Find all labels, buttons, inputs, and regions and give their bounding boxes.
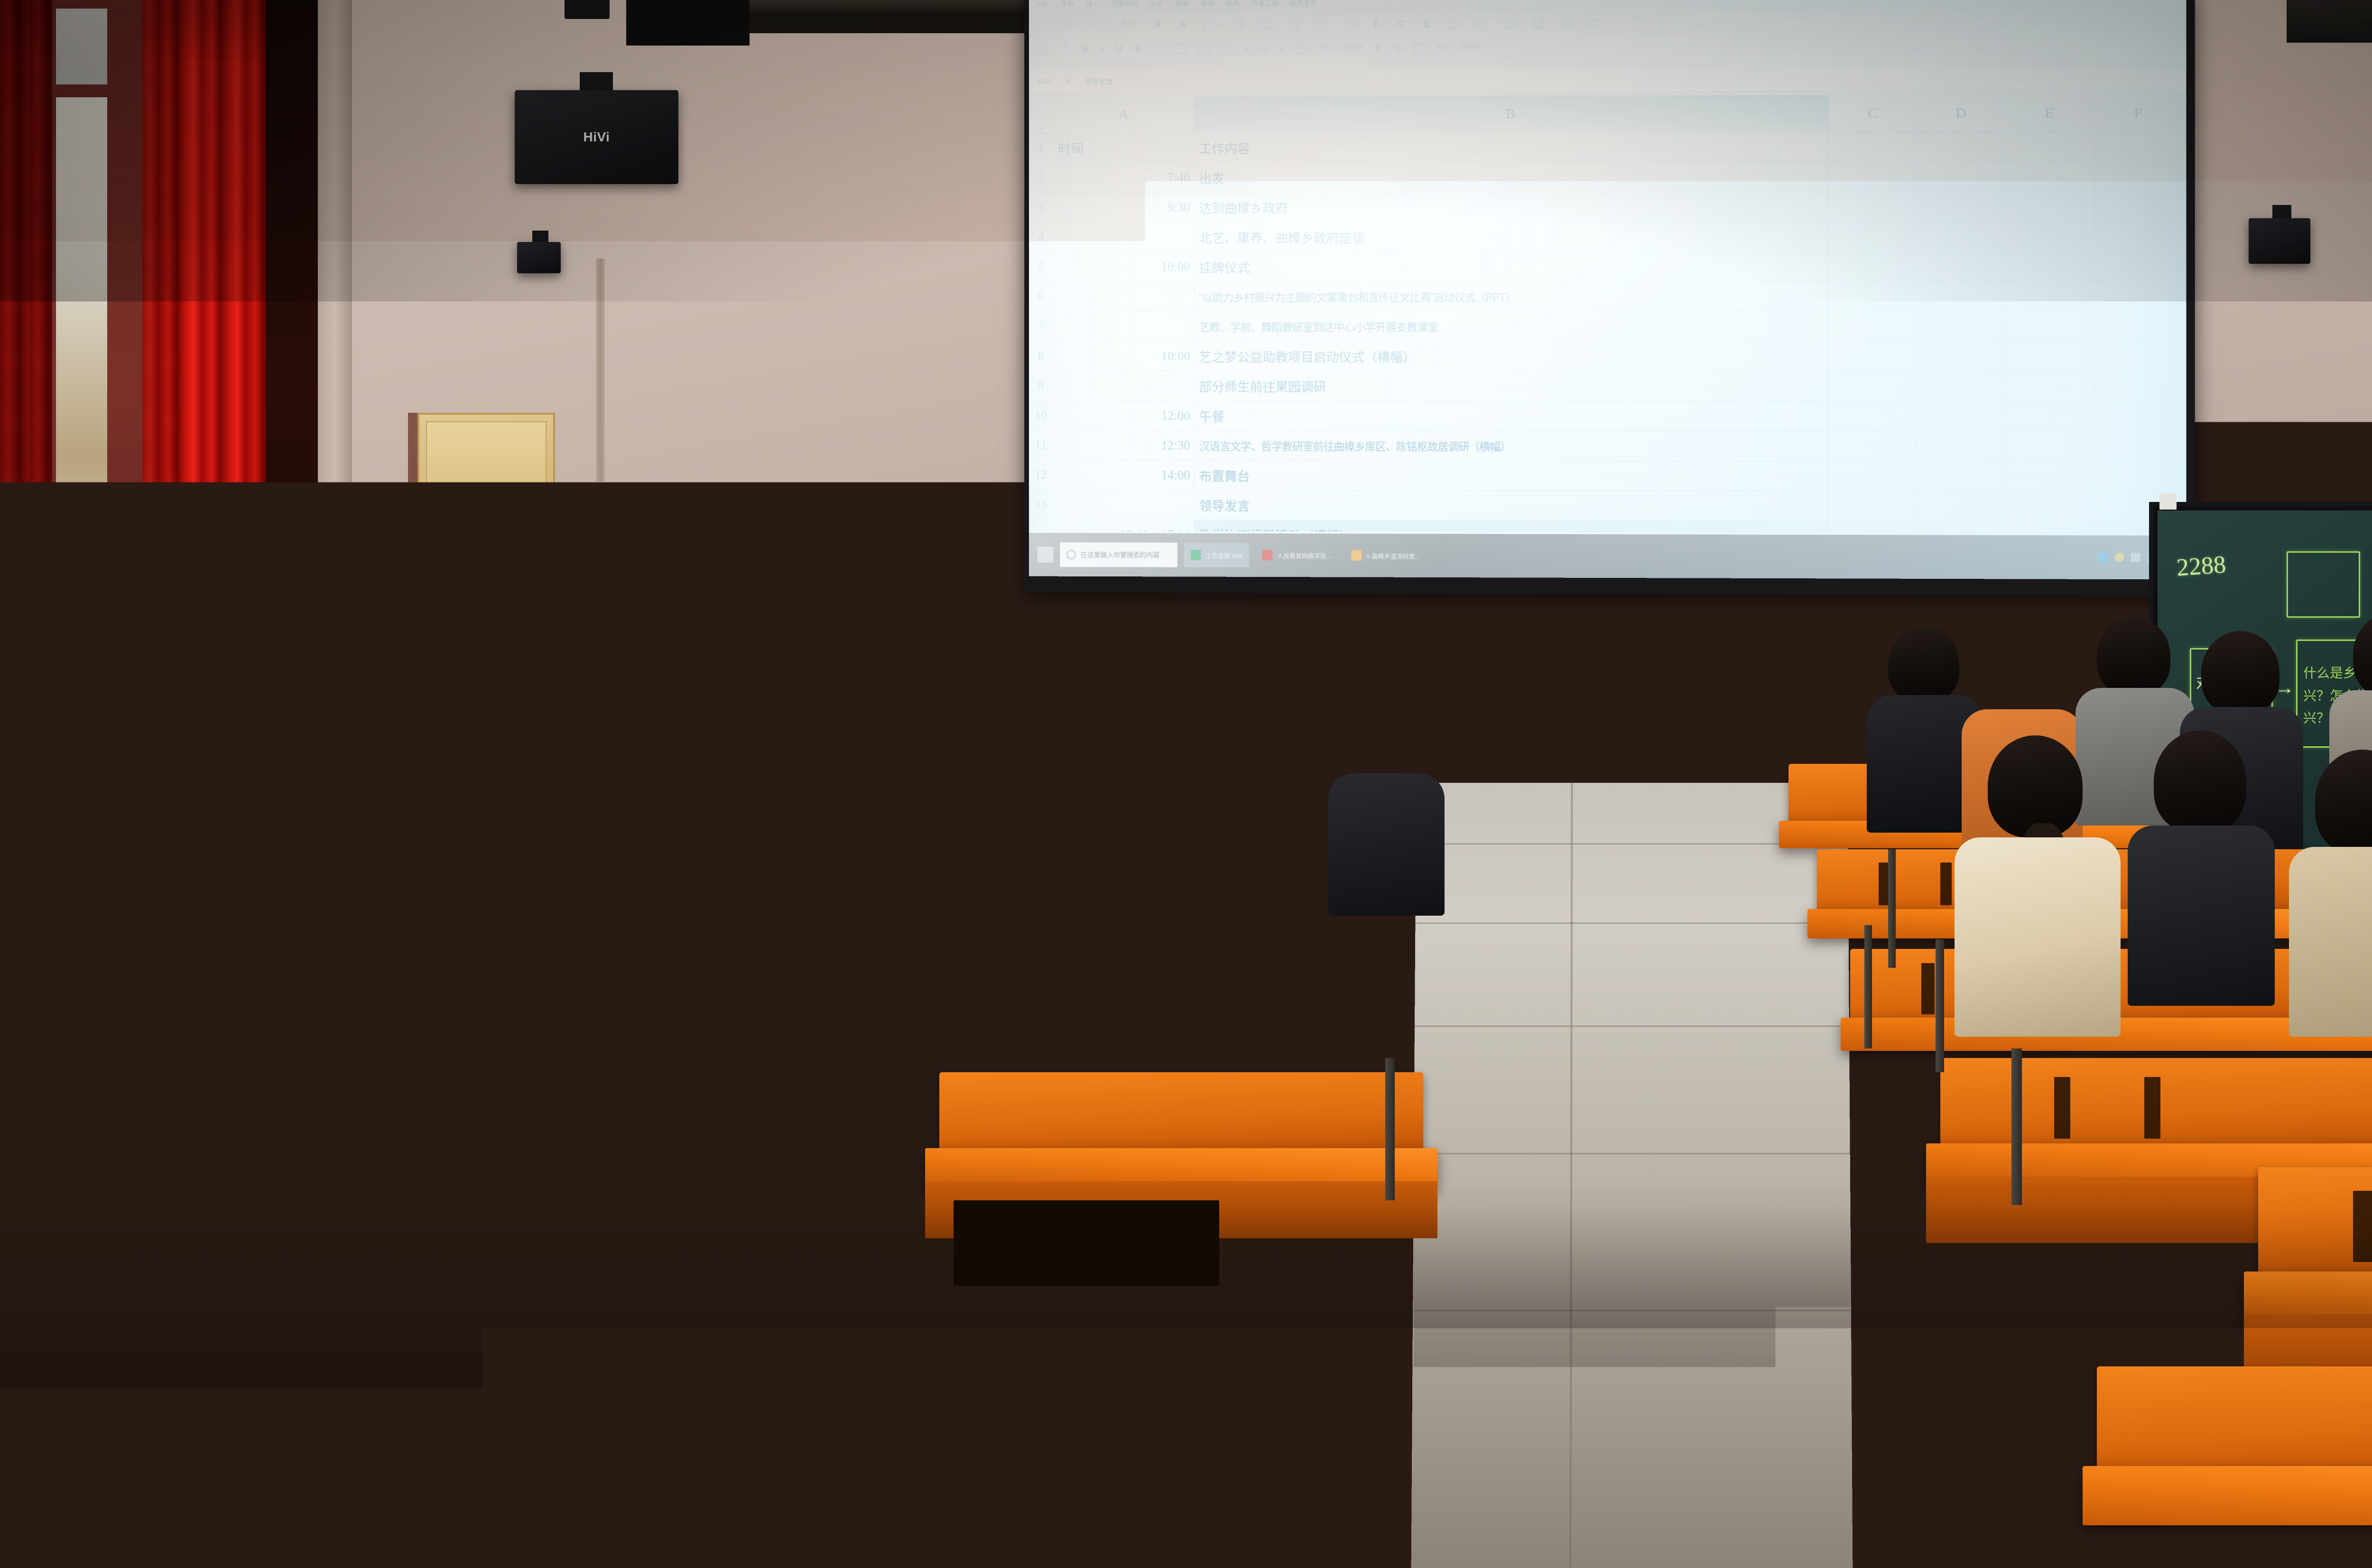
cell-empty[interactable] — [1917, 521, 2005, 533]
align-right-icon[interactable]: ≡ — [1279, 44, 1285, 54]
student-torso-sage — [285, 1063, 740, 1452]
cell-empty[interactable] — [1917, 192, 2005, 222]
row-header[interactable]: 4 — [1029, 223, 1053, 252]
ribbon-tab-member[interactable]: 会员专享 — [1290, 0, 1317, 7]
cell-task[interactable]: 汉语言文学、哲学教研室前往曲樟乡库区、陈铭枢故居调研（横幅） — [1195, 431, 1829, 462]
column-header-A[interactable]: A — [1053, 96, 1194, 133]
student-hair — [460, 844, 617, 1011]
cell-empty[interactable] — [2094, 312, 2183, 342]
classroom-photo-scene: HiVi 12 1 2 3 4 5 6 7 8 9 10 11 文件 开始 插入… — [0, 0, 2372, 1568]
table-row[interactable]: 1214:00布置舞台 — [1029, 460, 2187, 492]
student-hair — [2201, 977, 2320, 1103]
eyeglasses-icon — [825, 529, 886, 546]
eyeglass-lens-left — [825, 529, 850, 546]
tile-seam-4 — [1414, 1153, 1850, 1154]
cell-empty[interactable] — [2005, 342, 2094, 371]
front-light-strip — [631, 646, 797, 668]
column-header-row[interactable]: A B C D E F — [1029, 94, 2187, 133]
row-header[interactable]: 7 — [1029, 312, 1053, 342]
cell-empty[interactable] — [1917, 372, 2005, 402]
table-row[interactable]: 1415:00—17:00教学物资捐赠活动（横幅） — [1029, 520, 2187, 534]
door-frame — [318, 0, 352, 607]
cabinet-panel — [426, 421, 547, 516]
cell-empty[interactable] — [1917, 432, 2005, 462]
indent-icon[interactable] — [1232, 19, 1242, 29]
taskbar-item-browser[interactable]: 人民教育网络学院... — [1256, 543, 1338, 567]
blackboard-clip-left — [2159, 493, 2177, 510]
find-icon[interactable] — [1562, 18, 1572, 28]
cell-empty[interactable] — [1917, 342, 2005, 371]
cell-time[interactable]: 7:40 — [1053, 163, 1194, 193]
presenter — [785, 479, 989, 726]
desk-leg-C3 — [1385, 1058, 1395, 1200]
student-torso — [638, 757, 764, 899]
delete-row-icon[interactable] — [1505, 18, 1515, 28]
cell-empty[interactable] — [1917, 252, 2005, 282]
taskbar-item-spreadsheet[interactable]: 工作安排.xlsx — [1184, 543, 1249, 567]
font-size-shrink-icon[interactable]: A — [1179, 19, 1186, 29]
column-header-F[interactable]: F — [2094, 94, 2183, 132]
cell-time[interactable]: 12:30 — [1053, 430, 1194, 460]
window-pane-upper — [56, 9, 107, 84]
cell-task[interactable]: “以助力乡村振兴为主题的文案策划和宣传征文比赛”启动仪式（PPT） — [1195, 282, 1829, 312]
fx-icon[interactable]: fx — [1065, 77, 1071, 85]
ribbon-tab-home[interactable]: 开始 — [1061, 0, 1074, 8]
student-hair — [1186, 678, 1274, 771]
ceiling-panel-box — [626, 0, 750, 46]
table-row[interactable]: 4北艺、康养、曲樟乡政府座谈 — [1029, 222, 2187, 252]
ribbon-tab-devtools[interactable]: 开发工具 — [1252, 0, 1279, 7]
student-torso — [1328, 773, 1445, 916]
cell-time[interactable] — [1053, 312, 1194, 342]
column-header-C[interactable]: C — [1829, 95, 1917, 132]
help-icon[interactable] — [1590, 18, 1601, 28]
cabinet-vent-slot — [424, 525, 548, 537]
percent-icon[interactable]: % — [1393, 43, 1401, 54]
cell-empty[interactable] — [1829, 342, 1917, 371]
desk-leg-C2 — [1390, 920, 1398, 1034]
curtain-left — [0, 0, 52, 740]
row-header[interactable]: 2 — [1029, 163, 1053, 193]
table-row[interactable]: 7艺教、学前、舞蹈教研室到达中心小学开展支教课堂 — [1029, 312, 2187, 342]
row-header[interactable]: 12 — [1029, 460, 1053, 490]
student-torso — [0, 1072, 171, 1404]
ribbon-tab-view[interactable]: 视图 — [1226, 0, 1240, 7]
cell-task[interactable]: 艺之梦公益助教项目启动仪式（横幅） — [1195, 342, 1829, 372]
conditional-format-icon[interactable] — [1317, 19, 1327, 29]
paste-label[interactable]: 粘贴 — [1065, 19, 1075, 30]
desk-leg-R4 — [1864, 925, 1872, 1048]
currency-icon[interactable]: ¥ — [1375, 43, 1381, 54]
ribbon-row-secondary[interactable]: 字体 B I U A ≡ ≡ ≡ 对齐 合并居中 ¥ % 求和 冻结窗格 — [1029, 36, 2187, 60]
merge-center-icon[interactable] — [1297, 43, 1307, 54]
number-format-icon[interactable] — [1288, 19, 1299, 29]
freeze-label[interactable]: 冻结窗格 — [1459, 43, 1480, 54]
row-header[interactable]: 14 — [1029, 520, 1053, 534]
bench-slat-L6c — [873, 1409, 894, 1485]
desk-leg-R1 — [1888, 849, 1896, 968]
student-torso — [707, 906, 1020, 1276]
bench-slat-R2b — [1940, 863, 1952, 905]
cell-empty[interactable] — [1917, 462, 2005, 492]
cell-task[interactable]: 领导发言 — [1195, 490, 1829, 521]
cell-task[interactable]: 工作内容 — [1195, 132, 1829, 163]
taskbar-item-1-label: 工作安排.xlsx — [1205, 550, 1242, 559]
student-hair — [332, 740, 415, 828]
bench-slat-L6b — [769, 1409, 789, 1485]
cell-empty[interactable] — [2005, 252, 2094, 282]
air-conditioner-duct — [2287, 0, 2372, 43]
cell-empty[interactable] — [2005, 282, 2094, 312]
cell-time[interactable] — [1053, 371, 1194, 401]
cell-empty[interactable] — [1829, 492, 1917, 522]
spreadsheet-rows[interactable]: 1时间工作内容27:40出发39:30达到曲樟乡政府4北艺、康养、曲樟乡政府座谈… — [1029, 131, 2187, 534]
cell-empty[interactable] — [1829, 312, 1917, 342]
tile-seam-2 — [1415, 922, 1848, 924]
ribbon-tab-formula[interactable]: 公式 — [1150, 0, 1163, 7]
camera-bag-zipper — [1138, 975, 1264, 981]
cell-empty[interactable] — [1829, 402, 1917, 432]
cell-time[interactable]: 12:00 — [1053, 401, 1194, 431]
cell-empty[interactable] — [2005, 372, 2094, 402]
column-header-B[interactable]: B — [1195, 95, 1829, 133]
student-hair — [769, 731, 958, 930]
taskbar-item-document[interactable]: 1-曲樟乡温汤村党... — [1344, 543, 1427, 568]
cell-empty[interactable] — [1829, 162, 1917, 192]
ribbon-tab-insert[interactable]: 插入 — [1086, 0, 1100, 7]
cell-empty[interactable] — [2094, 282, 2183, 312]
name-box[interactable]: B13 — [1038, 77, 1051, 85]
cell-time[interactable]: 10:00 — [1053, 341, 1194, 371]
cell-empty[interactable] — [1917, 312, 2005, 342]
row-header[interactable]: 1 — [1029, 133, 1053, 163]
row-header[interactable]: 11 — [1029, 430, 1053, 460]
row-header[interactable]: 13 — [1029, 490, 1053, 520]
ribbon-tab-file[interactable]: 文件 — [1036, 0, 1049, 8]
microphone-led-indicator — [872, 591, 889, 596]
windows-taskbar[interactable]: 在这里输入你要搜索的内容 工作安排.xlsx 人民教育网络学院... 1-曲樟乡… — [1029, 533, 2187, 579]
cell-empty[interactable] — [1917, 282, 2005, 312]
table-row[interactable]: 6“以助力乡村振兴为主题的文案策划和宣传征文比赛”启动仪式（PPT） — [1029, 282, 2187, 312]
student-hair — [1955, 897, 2083, 1034]
row-header[interactable]: 10 — [1029, 401, 1053, 431]
cell-empty[interactable] — [2094, 192, 2183, 222]
cell-empty[interactable] — [2094, 162, 2183, 192]
ribbon-tab-review[interactable]: 审阅 — [1201, 0, 1214, 7]
cell-empty[interactable] — [1829, 462, 1917, 492]
fill-color-icon[interactable] — [1176, 44, 1186, 54]
student-torso — [1366, 1243, 1660, 1568]
chalk-code-number: 2288 — [2176, 550, 2227, 582]
cell-empty[interactable] — [2005, 162, 2094, 192]
table-row[interactable]: 510:00挂牌仪式 — [1029, 252, 2187, 282]
hair-clip — [530, 773, 567, 801]
cell-empty[interactable] — [1917, 132, 2005, 162]
cell-empty[interactable] — [1829, 432, 1917, 462]
filter-icon[interactable]: ▽ — [1397, 19, 1404, 29]
row-header[interactable]: 5 — [1029, 252, 1053, 282]
wall-trim-strip — [596, 259, 605, 482]
cell-empty[interactable] — [2094, 222, 2183, 251]
table-row[interactable]: 27:40出发 — [1029, 162, 2187, 193]
cell-empty[interactable] — [1917, 402, 2005, 432]
format-painter-icon[interactable] — [1093, 19, 1103, 30]
freeze-panes-icon[interactable] — [1448, 19, 1459, 29]
row-header[interactable]: 8 — [1029, 341, 1053, 371]
taskbar-item-2-label: 人民教育网络学院... — [1277, 551, 1331, 560]
cell-empty[interactable] — [1829, 282, 1917, 312]
cell-empty[interactable] — [1917, 222, 2005, 251]
student-hair — [114, 697, 192, 780]
select-all-corner[interactable] — [1029, 96, 1053, 133]
cabinet-blue-label — [528, 540, 547, 583]
row-header[interactable]: 3 — [1029, 193, 1053, 223]
cell-empty[interactable] — [2005, 312, 2094, 342]
cell-empty[interactable] — [2005, 192, 2094, 222]
start-button-icon[interactable] — [1038, 547, 1054, 563]
merge-cells-icon[interactable] — [1260, 19, 1270, 29]
cell-empty[interactable] — [2094, 252, 2183, 282]
student-hair — [408, 659, 479, 735]
eyeglass-lens-right — [861, 529, 886, 546]
borders-icon[interactable] — [1153, 44, 1164, 54]
speaker-right-small — [2249, 218, 2310, 264]
window-pane-lower — [56, 97, 107, 681]
cell-task[interactable]: 布置舞台 — [1195, 461, 1829, 492]
cell-empty[interactable] — [2005, 462, 2094, 492]
insert-row-icon[interactable] — [1476, 19, 1487, 29]
paste-icon[interactable] — [1037, 19, 1047, 30]
chalk-empty-box — [2287, 551, 2360, 618]
cell-empty[interactable] — [2005, 432, 2094, 462]
network-icon[interactable] — [2098, 553, 2108, 562]
student-hair — [147, 778, 237, 875]
cell-task[interactable]: 艺教、学前、舞蹈教研室到达中心小学开展支教课堂 — [1195, 312, 1829, 342]
student-torso — [954, 761, 1086, 918]
speaker-brand-label: HiVi — [584, 130, 610, 145]
cell-empty[interactable] — [1829, 521, 1917, 534]
table-row[interactable]: 9部分师生前往果园调研 — [1029, 371, 2187, 402]
table-row[interactable]: 39:30达到曲樟乡政府 — [1029, 192, 2187, 223]
student-hair — [1988, 735, 2083, 837]
decimal-icon[interactable] — [1414, 43, 1424, 54]
cell-time[interactable] — [1053, 223, 1194, 252]
sum-label[interactable]: 求和 — [1436, 43, 1447, 54]
cell-empty[interactable] — [2094, 462, 2183, 492]
cell-empty[interactable] — [2005, 522, 2094, 534]
format-cells-icon[interactable] — [1533, 18, 1544, 28]
volume-icon[interactable] — [2131, 553, 2140, 562]
cell-time[interactable] — [1053, 282, 1194, 312]
cell-empty[interactable] — [2005, 131, 2094, 162]
font-effects-icon[interactable]: A — [1134, 44, 1141, 54]
ribbon-tab-layout[interactable]: 页面布局 — [1112, 0, 1138, 7]
cell-task[interactable]: 达到曲樟乡政府 — [1195, 192, 1829, 223]
cell-empty[interactable] — [2005, 222, 2094, 251]
cell-empty[interactable] — [2094, 342, 2183, 372]
font-family-label[interactable]: 字体 — [1059, 44, 1069, 55]
ribbon-tab-data[interactable]: 数据 — [1176, 0, 1189, 7]
font-color-icon[interactable] — [1198, 44, 1209, 54]
spreadsheet-grid[interactable]: A B C D E F 1时间工作内容27:40出发39:30达到曲樟乡政府4北… — [1029, 94, 2187, 534]
cell-empty[interactable] — [2094, 432, 2183, 462]
cell-task[interactable]: 北艺、康养、曲樟乡政府座谈 — [1195, 222, 1829, 252]
cell-task[interactable]: 午餐 — [1195, 401, 1829, 432]
cell-time[interactable]: 9:30 — [1053, 193, 1194, 223]
student-hair — [1888, 626, 1959, 702]
bench-slat-L2a — [57, 829, 67, 863]
student-hair — [2097, 617, 2170, 695]
cell-empty[interactable] — [1917, 492, 2005, 522]
speaker-left-small — [517, 242, 561, 273]
table-row[interactable]: 1112:30汉语言文学、哲学教研室前往曲樟乡库区、陈铭枢故居调研（横幅） — [1029, 430, 2187, 462]
taskbar-item-3-label: 1-曲樟乡温汤村党... — [1366, 551, 1420, 560]
projection-screen[interactable]: 文件 开始 插入 页面布局 公式 数据 审阅 视图 开发工具 会员专享 粘贴 格… — [1029, 0, 2187, 579]
column-header-E[interactable]: E — [2005, 94, 2094, 132]
cell-empty[interactable] — [1829, 132, 1917, 162]
tile-seam-3 — [1415, 1026, 1849, 1027]
desk-L6 — [522, 1480, 1376, 1537]
table-style-icon[interactable] — [1345, 19, 1355, 29]
presenter-hand — [871, 622, 901, 656]
cell-empty[interactable] — [2005, 492, 2094, 522]
document-icon — [1351, 550, 1362, 561]
align-left-icon[interactable]: ≡ — [1244, 44, 1250, 54]
ribbon-row-primary[interactable]: 粘贴 格式刷 A A Σ ▽ ⇅ — [1029, 9, 2187, 37]
font-size-grow-icon[interactable]: A — [1154, 19, 1161, 29]
bold-icon[interactable]: B — [1082, 44, 1088, 55]
cell-empty[interactable] — [2005, 402, 2094, 432]
bench-slat-R3a — [1921, 963, 1935, 1014]
cell-empty[interactable] — [2094, 131, 2183, 162]
student-torso-pink — [128, 873, 270, 1034]
sort-icon[interactable]: ⇅ — [1422, 19, 1430, 29]
clear-format-icon[interactable] — [1221, 44, 1232, 54]
cell-task[interactable]: 教学物资捐赠活动（横幅） — [1195, 520, 1829, 534]
bench-slat-L3a — [85, 944, 99, 992]
excel-icon — [1191, 550, 1201, 560]
cell-task[interactable]: 挂牌仪式 — [1195, 252, 1829, 282]
format-painter-label[interactable]: 格式刷 — [1121, 19, 1137, 30]
student-hair — [659, 683, 738, 766]
align-center-icon[interactable]: ≡ — [1261, 44, 1267, 54]
table-row[interactable]: 1012:00午餐 — [1029, 401, 2187, 432]
clipboard-icon[interactable] — [1037, 44, 1047, 55]
student-hair — [2201, 631, 2279, 714]
cell-empty[interactable] — [2094, 402, 2183, 432]
notification-icon[interactable] — [2114, 553, 2124, 562]
formula-bar[interactable]: B13 fx 领导发言 — [1029, 68, 2187, 93]
student-torso-cream — [1883, 1063, 2177, 1395]
italic-icon[interactable]: I — [1101, 44, 1103, 54]
student-hair — [1347, 702, 1421, 780]
presenter-coat — [790, 563, 946, 729]
cell-empty[interactable] — [1829, 192, 1917, 222]
row-height-label[interactable]: 对齐 — [1320, 43, 1330, 54]
cabinet-yellow-label — [430, 542, 447, 547]
student-torso-red — [308, 818, 444, 975]
student-hair — [977, 683, 1060, 771]
browser-icon — [1262, 550, 1273, 560]
desk-leg-R2 — [1936, 939, 1944, 1072]
cell-time[interactable] — [1053, 490, 1194, 520]
student-hair — [166, 622, 232, 693]
eyeglass-bridge — [850, 536, 861, 538]
wrap-text-icon[interactable] — [1204, 19, 1214, 29]
table-row[interactable]: 13领导发言 — [1029, 490, 2187, 522]
cell-empty[interactable] — [1829, 371, 1917, 401]
cell-time[interactable]: 14:00 — [1053, 460, 1194, 490]
cell-task[interactable]: 出发 — [1195, 162, 1829, 192]
cell-task[interactable]: 部分师生前往果园调研 — [1195, 371, 1829, 401]
cell-time[interactable]: 10:00 — [1053, 252, 1194, 282]
cell-time[interactable]: 时间 — [1053, 133, 1194, 163]
table-row[interactable]: 810:00艺之梦公益助教项目启动仪式（横幅） — [1029, 341, 2187, 372]
speaker-left: HiVi — [515, 90, 678, 184]
row-header[interactable]: 9 — [1029, 371, 1053, 401]
student-hair — [1983, 636, 2059, 716]
cell-empty[interactable] — [1829, 222, 1917, 252]
taskbar-search-box[interactable]: 在这里输入你要搜索的内容 — [1060, 542, 1177, 567]
autosum-icon[interactable]: Σ — [1373, 19, 1379, 29]
taskbar-search-placeholder: 在这里输入你要搜索的内容 — [1081, 550, 1159, 559]
curtain-shadow-gap — [266, 0, 318, 655]
underline-icon[interactable]: U — [1115, 44, 1122, 54]
table-row[interactable]: 1时间工作内容 — [1029, 131, 2187, 163]
search-icon — [1066, 550, 1076, 559]
cell-empty[interactable] — [1917, 162, 2005, 192]
student-hair — [2154, 731, 2246, 833]
cell-time[interactable]: 15:00—17:00 — [1053, 520, 1194, 534]
formula-content[interactable]: 领导发言 — [1084, 76, 1112, 86]
row-header[interactable]: 6 — [1029, 282, 1053, 312]
cell-empty[interactable] — [2094, 372, 2183, 402]
cell-empty[interactable] — [1829, 252, 1917, 282]
ceiling-mount-box — [565, 0, 610, 19]
column-header-D[interactable]: D — [1917, 94, 2005, 132]
merge-center-label[interactable]: 合并居中 — [1342, 43, 1363, 54]
